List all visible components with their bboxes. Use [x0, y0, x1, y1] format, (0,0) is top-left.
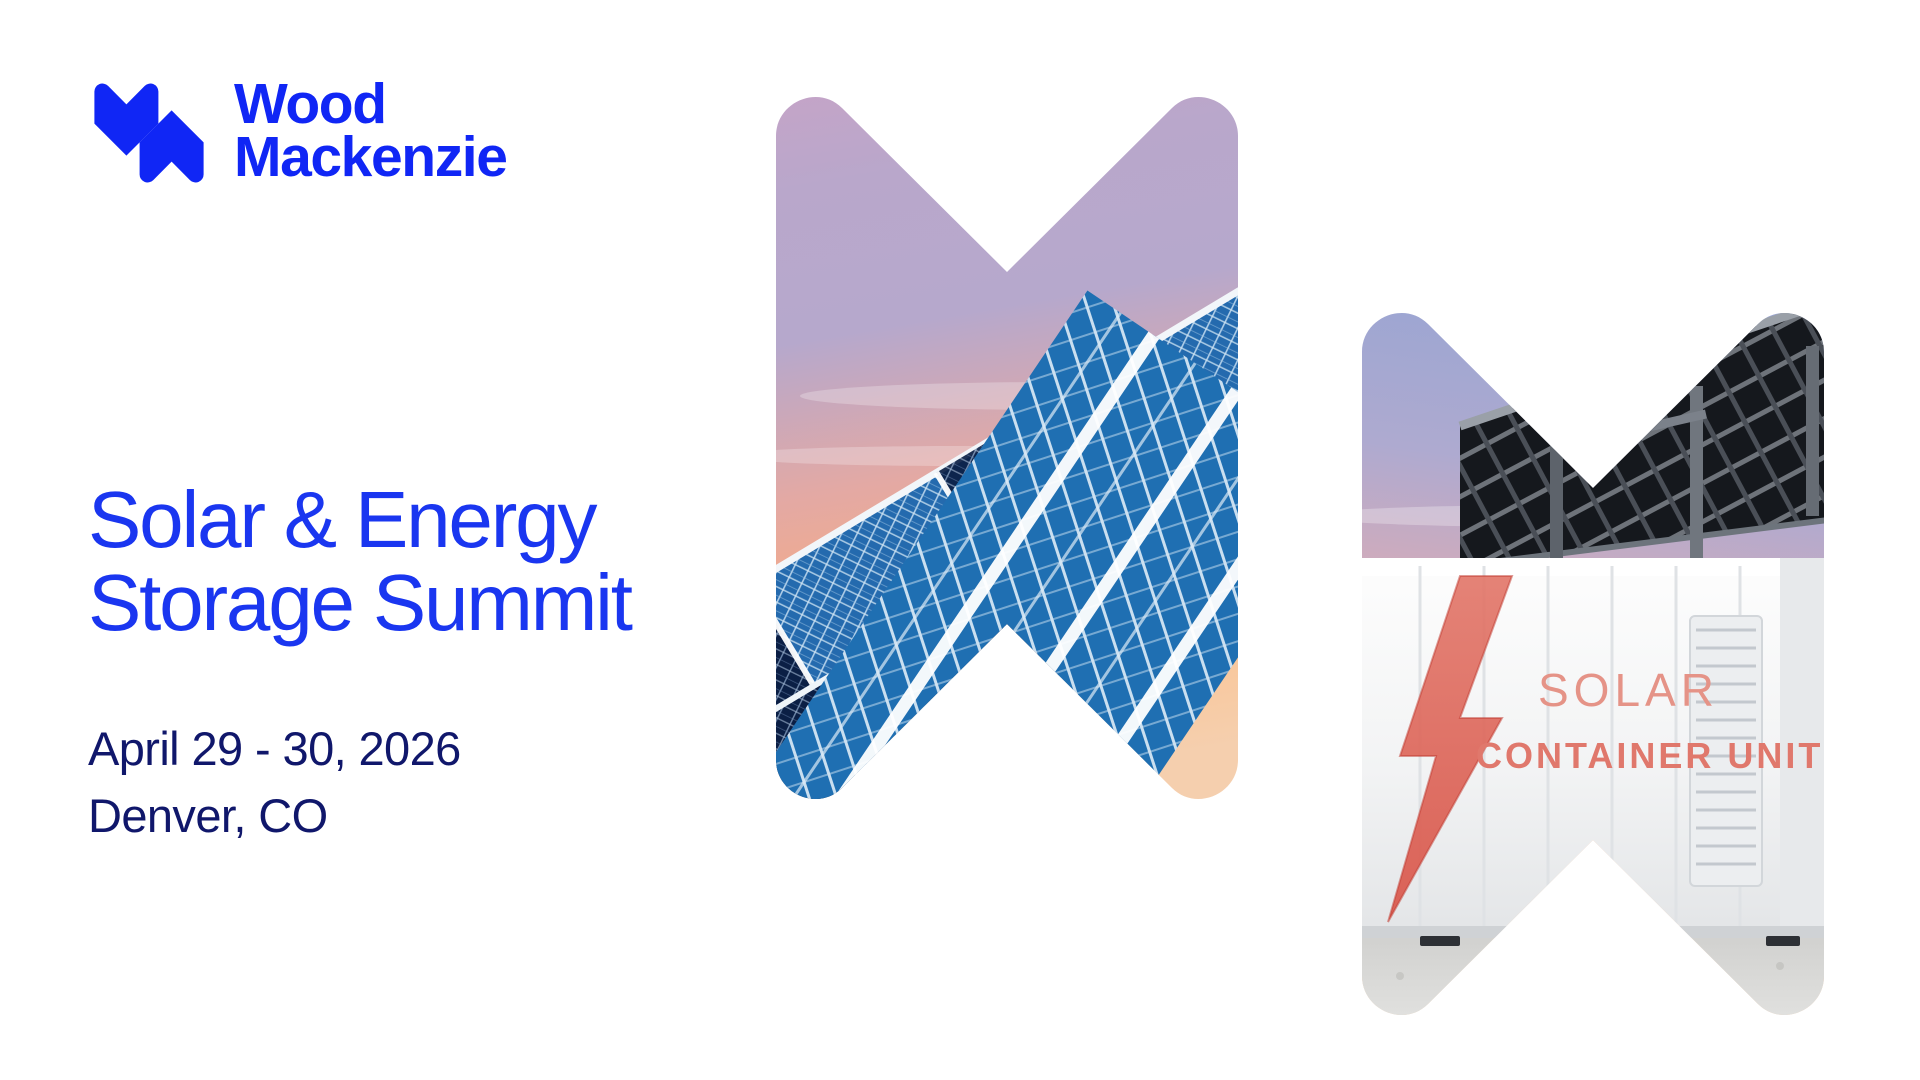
- logo-wordmark-line2: Mackenzie: [234, 131, 507, 184]
- wood-mackenzie-logo[interactable]: Wood Mackenzie: [88, 78, 507, 184]
- container-label-line1: SOLAR: [1538, 664, 1719, 716]
- event-title-line1: Solar & Energy: [88, 478, 748, 561]
- logo-wordmark-line1: Wood: [234, 78, 507, 131]
- container-label-line2: CONTAINER UNIT: [1476, 735, 1823, 776]
- image-collage: SOLAR CONTAINER UNIT: [760, 96, 1840, 1016]
- collage-svg: SOLAR CONTAINER UNIT: [760, 96, 1840, 1016]
- event-title-line2: Storage Summit: [88, 561, 748, 644]
- event-details: April 29 - 30, 2026 Denver, CO: [88, 716, 461, 849]
- wood-mackenzie-chevron-mark-icon: [88, 78, 210, 184]
- event-dates: April 29 - 30, 2026: [88, 716, 461, 783]
- event-promo-banner: Wood Mackenzie Solar & Energy Storage Su…: [0, 0, 1920, 1080]
- event-location: Denver, CO: [88, 783, 461, 850]
- logo-wordmark: Wood Mackenzie: [234, 78, 507, 184]
- event-title: Solar & Energy Storage Summit: [88, 478, 748, 644]
- left-content-column: Wood Mackenzie Solar & Energy Storage Su…: [88, 0, 728, 1080]
